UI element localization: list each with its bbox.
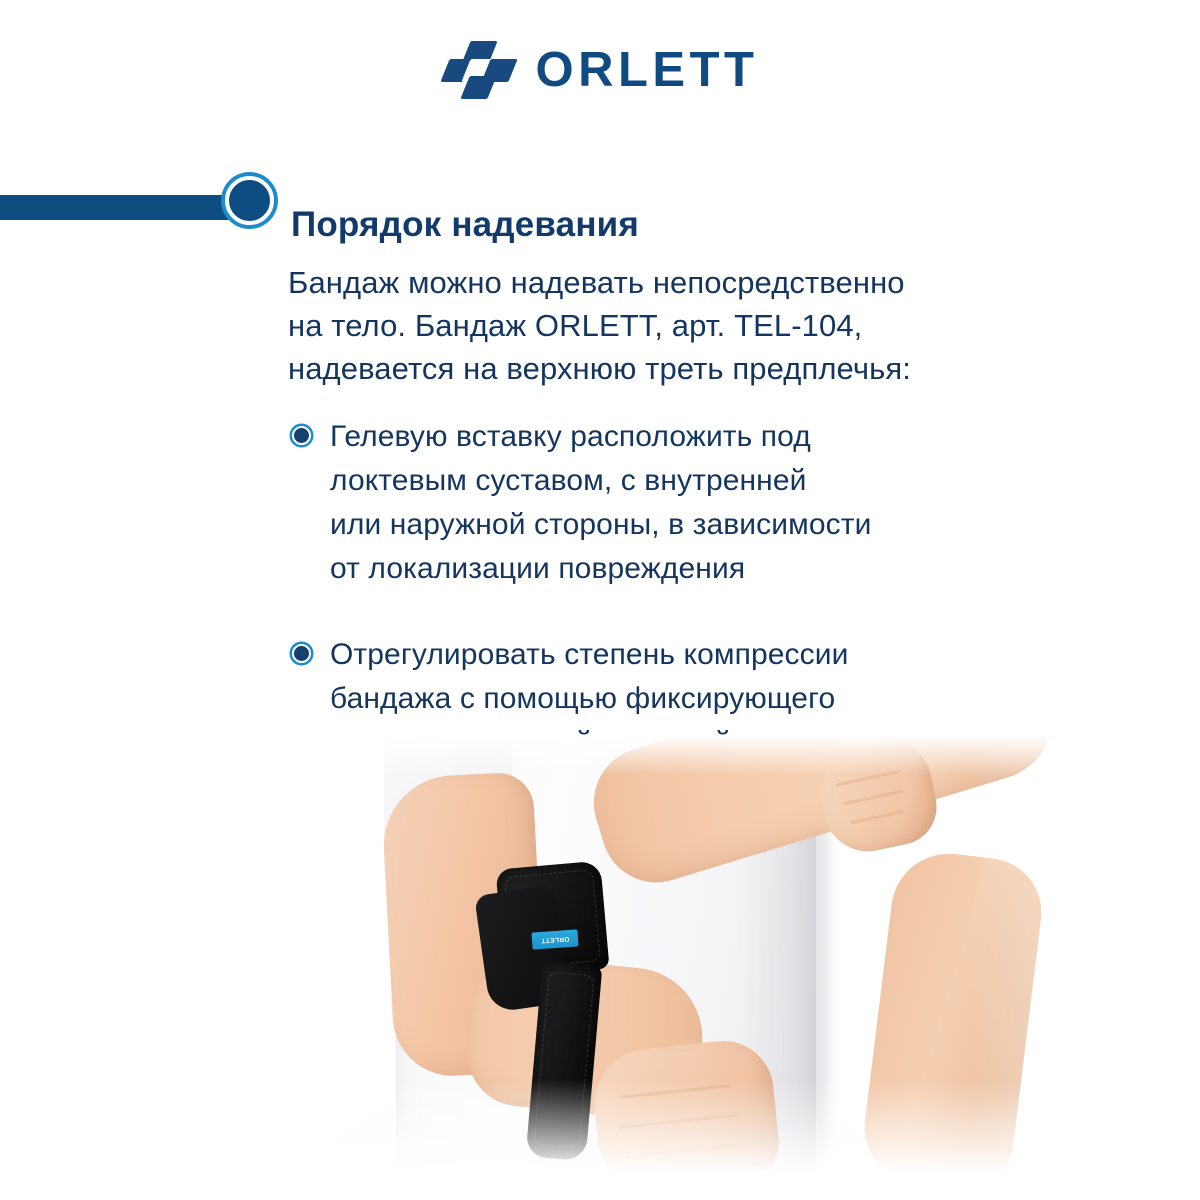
instruction-list: Гелевую вставку расположить под локтевым… [288,415,1078,765]
intro-line: надевается на верхнюю треть предплечья: [288,347,1048,390]
ring-bullet-icon [292,426,311,445]
list-item-line: бандажа с помощью фиксирующего [330,677,1078,721]
photo-fade-bottom [0,1080,1200,1200]
ring-bullet-icon [292,644,311,663]
intro-paragraph: Бандаж можно надевать непосредственно на… [288,261,1048,390]
list-item-text: Гелевую вставку расположить под локтевым… [330,415,1078,591]
orlett-diamond-cross-icon [442,41,514,99]
list-item-line: от локализации повреждения [330,547,1078,591]
list-item-line: или наружной стороны, в зависимости [330,503,1078,547]
intro-line: на тело. Бандаж ORLETT, арт. TEL-104, [288,304,1048,347]
list-item: Гелевую вставку расположить под локтевым… [288,415,1078,591]
photo-finger-line [842,790,903,806]
list-item-line: локтевым суставом, с внутренней [330,459,1078,503]
photo-finger-line [850,810,903,824]
brand-wordmark: ORLETT [536,46,759,95]
page-title: Порядок надевания [291,205,639,245]
page-root: ORLETT Порядок надевания Бандаж можно на… [0,0,1200,1200]
list-item-line: Отрегулировать степень компрессии [330,633,1078,677]
brand-header: ORLETT [0,32,1200,108]
brace-brand-label: ORLETT [531,929,578,949]
intro-line: Бандаж можно надевать непосредственно [288,261,1048,304]
product-demo-photo: ORLETT [0,735,1200,1200]
brace-label-text: ORLETT [541,935,570,944]
heading-ring-marker-icon [225,176,274,225]
heading-rail-bar [0,195,243,220]
list-item-line: Гелевую вставку расположить под [330,415,1078,459]
